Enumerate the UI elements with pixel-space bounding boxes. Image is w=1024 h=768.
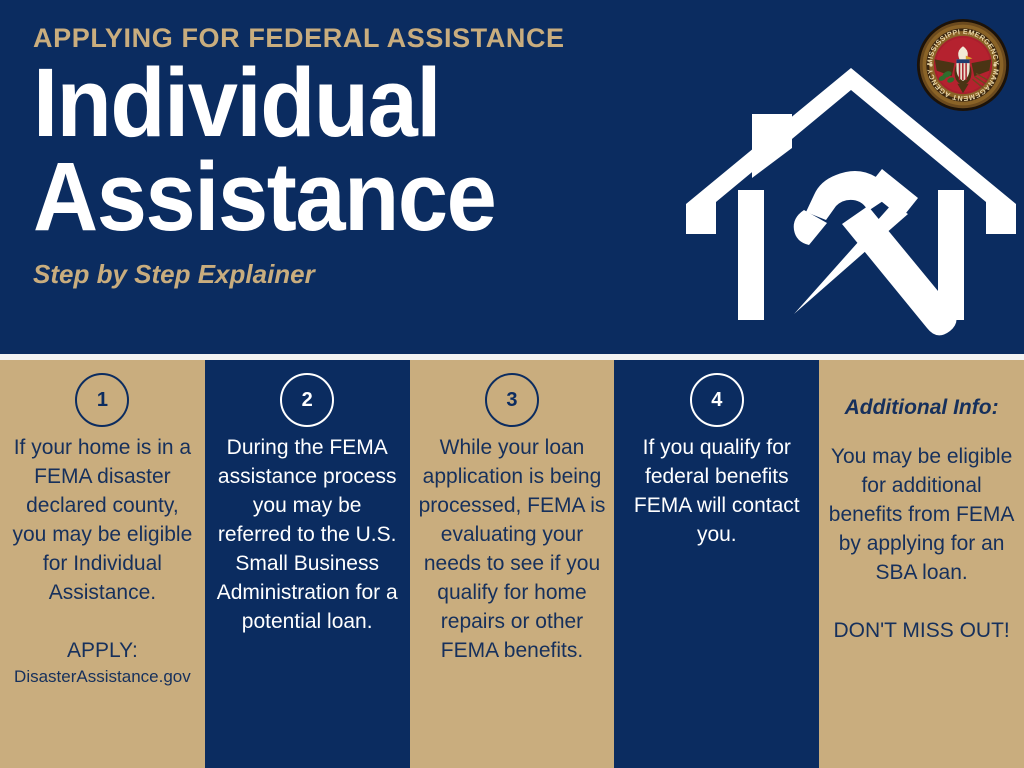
step-number-badge-1: 1	[75, 373, 129, 427]
page-title-line-1: Individual	[33, 56, 647, 150]
step-number-1: 1	[97, 390, 108, 410]
step-number-badge-4: 4	[690, 373, 744, 427]
apply-label: APPLY:	[9, 636, 196, 665]
page-title: Individual Assistance	[33, 56, 647, 244]
step-number-badge-3: 3	[485, 373, 539, 427]
step-column-3: 3 While your loan application is being p…	[410, 360, 615, 768]
additional-info-column: Additional Info: You may be eligible for…	[819, 360, 1024, 768]
page-title-line-2: Assistance	[33, 150, 647, 244]
step-column-2: 2 During the FEMA assistance process you…	[205, 360, 410, 768]
infographic-root: MISSISSIPPI EMERGENCY MANAGEMENT AGENCY …	[0, 0, 1024, 768]
step-body-4: If you qualify for federal benefits FEMA…	[623, 433, 810, 549]
step-number-badge-2: 2	[280, 373, 334, 427]
header-subtitle: Step by Step Explainer	[33, 259, 693, 290]
step-body-2: During the FEMA assistance process you m…	[214, 433, 401, 636]
additional-info-body: You may be eligible for additional benef…	[828, 442, 1015, 587]
additional-info-cta: DON'T MISS OUT!	[828, 616, 1015, 645]
header-banner: MISSISSIPPI EMERGENCY MANAGEMENT AGENCY …	[0, 0, 1024, 354]
additional-info-heading: Additional Info:	[828, 396, 1015, 420]
step-body-3: While your loan application is being pro…	[419, 433, 606, 665]
steps-row: 1 If your home is in a FEMA disaster dec…	[0, 360, 1024, 768]
step-number-4: 4	[711, 390, 722, 410]
step-number-3: 3	[506, 390, 517, 410]
step-body-1: If your home is in a FEMA disaster decla…	[9, 433, 196, 607]
apply-url-link[interactable]: DisasterAssistance.gov	[9, 665, 196, 689]
apply-block: APPLY: DisasterAssistance.gov	[9, 636, 196, 689]
step-column-1: 1 If your home is in a FEMA disaster dec…	[0, 360, 205, 768]
step-column-4: 4 If you qualify for federal benefits FE…	[614, 360, 819, 768]
mema-seal-logo: MISSISSIPPI EMERGENCY MANAGEMENT AGENCY	[916, 18, 1010, 112]
header-text-block: APPLYING FOR FEDERAL ASSISTANCE Individu…	[33, 24, 693, 290]
step-number-2: 2	[302, 390, 313, 410]
